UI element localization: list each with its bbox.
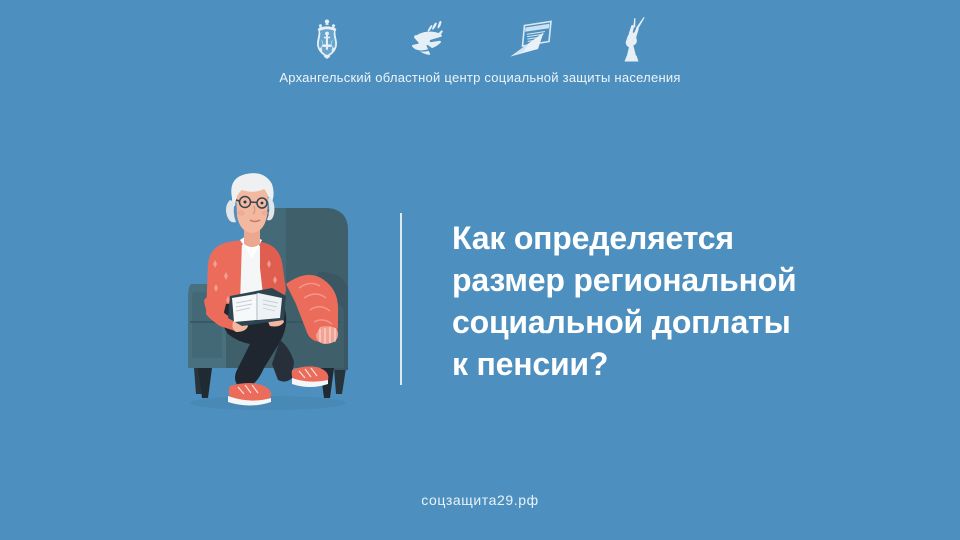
website-url[interactable]: соцзащита29.рф [0,492,960,508]
motherland-monument-icon [610,16,656,62]
document-card-icon [508,16,554,62]
slide-content: Как определяется размер региональной соц… [0,160,960,420]
elderly-woman-reading-illustration [168,172,368,417]
slide-footer: соцзащита29.рф [0,460,960,540]
page-title: Как определяется размер региональной соц… [452,218,872,386]
slide-canvas: Архангельский областной центр социальной… [0,0,960,540]
headline-line-1: Как определяется [452,218,872,260]
organization-title: Архангельский областной центр социальной… [0,70,960,85]
arkhangelsk-coat-of-arms-icon [304,16,350,62]
slide-header: Архангельский областной центр социальной… [0,0,960,110]
headline-line-4: к пенсии? [452,344,872,386]
vertical-divider [400,213,402,385]
logo-row [0,16,960,62]
headline-line-2: размер региональной [452,260,872,302]
helping-hands-icon [406,16,452,62]
headline-line-3: социальной доплаты [452,302,872,344]
